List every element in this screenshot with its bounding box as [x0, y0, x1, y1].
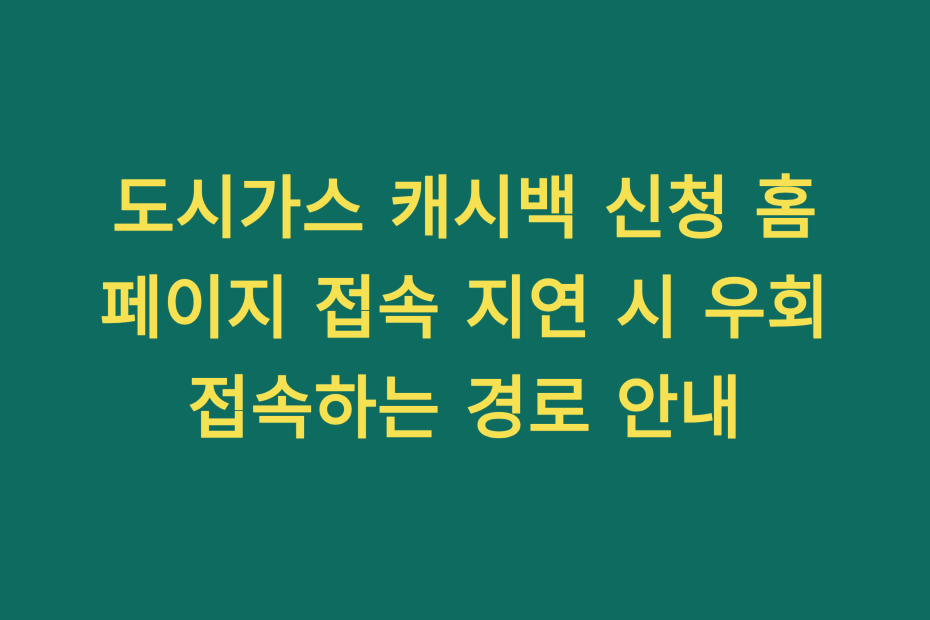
headline-line-3: 접속하는 경로 안내 — [40, 360, 890, 460]
headline-block: 도시가스 캐시백 신청 홈 페이지 접속 지연 시 우회 접속하는 경로 안내 — [0, 160, 930, 460]
banner-canvas: 도시가스 캐시백 신청 홈 페이지 접속 지연 시 우회 접속하는 경로 안내 — [0, 0, 930, 620]
headline-line-2: 페이지 접속 지연 시 우회 — [40, 260, 890, 360]
headline-line-1: 도시가스 캐시백 신청 홈 — [40, 160, 890, 260]
